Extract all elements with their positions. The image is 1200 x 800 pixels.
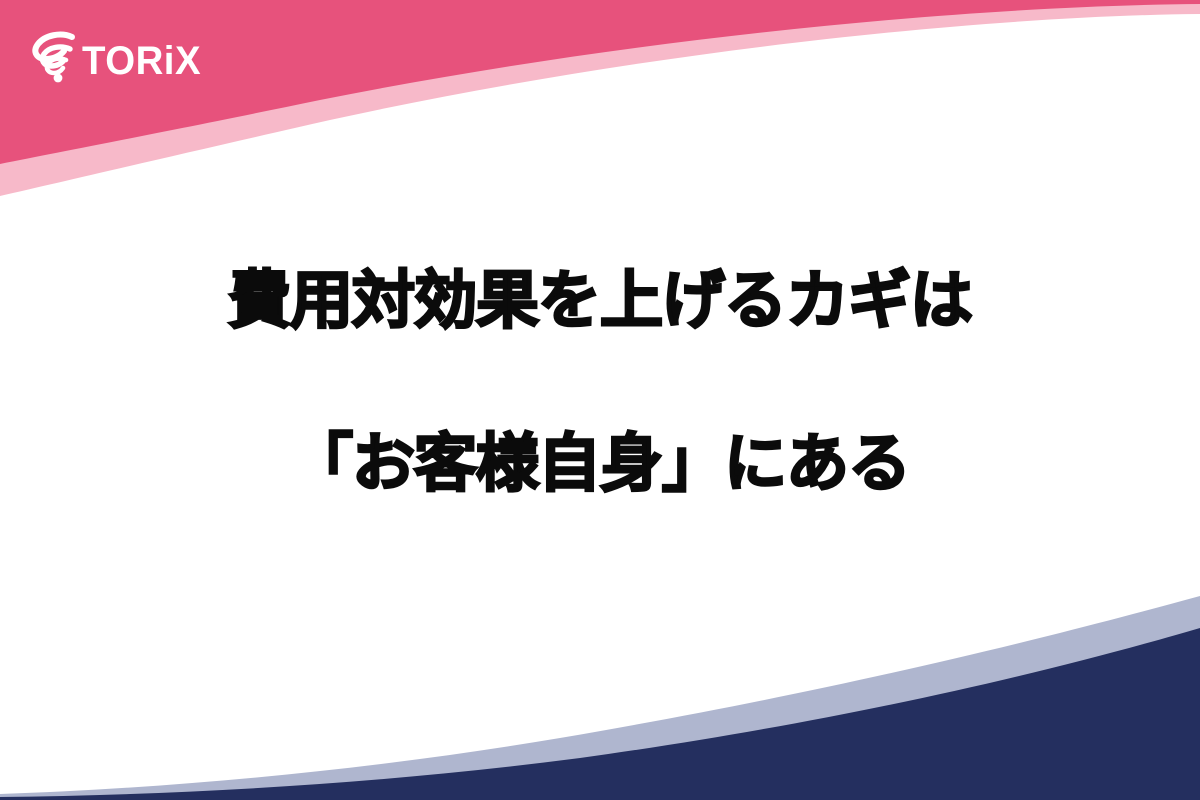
bottom-navy-band (0, 628, 1200, 800)
slide-canvas: TORiX 費用対効果を上げるカギは 「お客様自身」にある (0, 0, 1200, 800)
headline-line-1: 費用対効果を上げるカギは (0, 268, 1200, 335)
swoosh-tornado-icon (28, 28, 86, 86)
brand-logo[interactable]: TORiX (28, 26, 238, 88)
brand-wordmark: TORiX (82, 41, 201, 81)
headline-block: 費用対効果を上げるカギは 「お客様自身」にある (0, 268, 1200, 498)
bottom-accent-curve (0, 596, 1200, 800)
logo-dot (54, 74, 63, 83)
headline-line-2: 「お客様自身」にある (0, 431, 1200, 498)
